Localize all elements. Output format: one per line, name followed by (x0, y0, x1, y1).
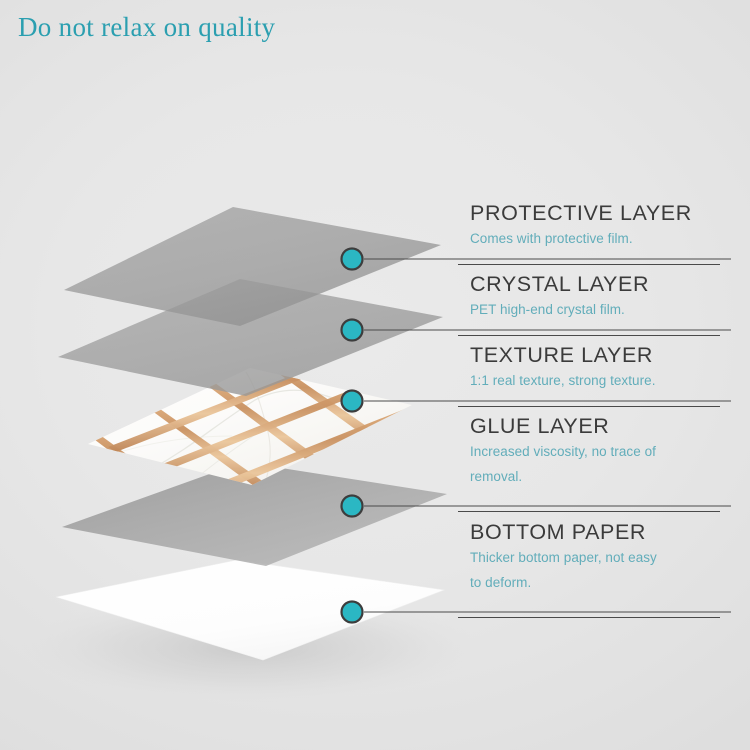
callout-title: PROTECTIVE LAYER (470, 200, 732, 226)
callout-description: Comes with protective film. (470, 226, 732, 251)
callout-separator (458, 264, 720, 265)
callout-description-line-2: to deform. (470, 570, 732, 595)
callout-description: 1:1 real texture, strong texture. (470, 368, 732, 393)
callout-description-line-1: Thicker bottom paper, not easy (470, 545, 732, 570)
callout-title: CRYSTAL LAYER (470, 271, 732, 297)
callout-separator (458, 335, 720, 336)
callout-glue-layer[interactable]: GLUE LAYER Increased viscosity, no trace… (470, 413, 732, 489)
callout-description-line-1: Increased viscosity, no trace of (470, 439, 732, 464)
callout-protective-layer[interactable]: PROTECTIVE LAYER Comes with protective f… (470, 200, 732, 251)
callout-title: GLUE LAYER (470, 413, 732, 439)
callout-bottom-paper[interactable]: BOTTOM PAPER Thicker bottom paper, not e… (470, 519, 732, 595)
callout-texture-layer[interactable]: TEXTURE LAYER 1:1 real texture, strong t… (470, 342, 732, 393)
callout-title: TEXTURE LAYER (470, 342, 732, 368)
callout-description: PET high-end crystal film. (470, 297, 732, 322)
callout-separator (458, 511, 720, 512)
connector-dot-texture[interactable] (342, 391, 363, 412)
callout-description-line-2: removal. (470, 464, 732, 489)
connector-dot-glue[interactable] (342, 496, 363, 517)
infographic-canvas: Do not relax on quality (0, 0, 750, 750)
callout-separator (458, 617, 720, 618)
connector-dot-protective[interactable] (342, 249, 363, 270)
callout-title: BOTTOM PAPER (470, 519, 732, 545)
callout-separator (458, 406, 720, 407)
connector-dot-bottom[interactable] (342, 602, 363, 623)
callout-crystal-layer[interactable]: CRYSTAL LAYER PET high-end crystal film. (470, 271, 732, 322)
connector-dot-crystal[interactable] (342, 320, 363, 341)
